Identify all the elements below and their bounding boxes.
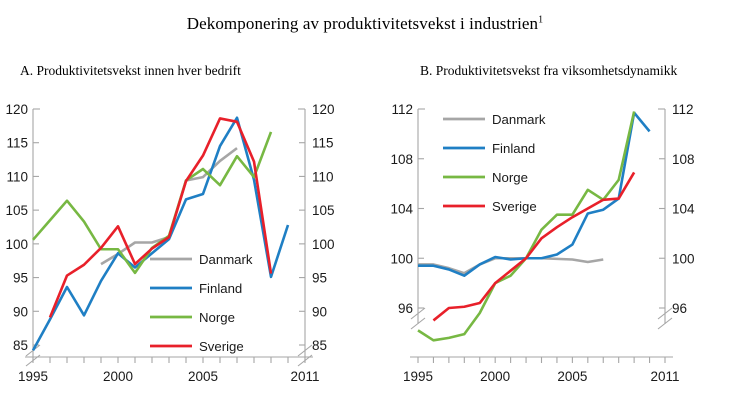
panel-b-svg: 9696100100104104108108112112199520002005… [365, 95, 730, 401]
y-tick-label-right: 110 [312, 169, 334, 184]
figure-title-footnote: 1 [538, 14, 543, 25]
legend-label-danmark: Danmark [492, 112, 546, 127]
legend-label-norge: Norge [199, 310, 235, 325]
y-tick-label-right: 105 [312, 203, 335, 218]
x-tick-label: 2011 [290, 369, 319, 384]
panel-b-chart: 9696100100104104108108112112199520002005… [365, 95, 730, 401]
y-tick-label-right: 95 [312, 271, 327, 286]
legend-label-sverige: Sverige [199, 339, 244, 354]
y-tick-label-right: 96 [672, 301, 687, 316]
legend-label-sverige: Sverige [492, 199, 537, 214]
y-tick-label-right: 108 [672, 152, 695, 167]
series-line-finland [418, 113, 650, 276]
y-tick-label-right: 85 [312, 338, 327, 353]
y-tick-label-left: 95 [13, 271, 28, 286]
x-tick-label: 1995 [403, 369, 433, 384]
y-tick-label-right: 100 [672, 251, 695, 266]
legend-label-norge: Norge [492, 170, 528, 185]
y-tick-label-left: 105 [5, 203, 28, 218]
panel-b-title: B. Produktivitetsvekst fra viksomhetsdyn… [420, 63, 677, 79]
y-tick-label-right: 90 [312, 304, 327, 319]
y-tick-label-right: 100 [312, 237, 335, 252]
legend-label-danmark: Danmark [199, 252, 253, 267]
y-tick-label-left: 120 [5, 102, 28, 117]
panel-a-title: A. Produktivitetsvekst innen hver bedrif… [20, 63, 241, 79]
y-tick-label-left: 108 [390, 152, 413, 167]
y-tick-label-left: 85 [13, 338, 28, 353]
y-tick-label-left: 110 [6, 169, 28, 184]
legend-label-finland: Finland [492, 141, 535, 156]
x-tick-label: 2011 [650, 369, 679, 384]
y-tick-label-left: 115 [6, 136, 28, 151]
y-tick-label-right: 112 [672, 102, 694, 117]
y-tick-label-left: 90 [13, 304, 28, 319]
figure-root: Dekomponering av produktivitetsvekst i i… [0, 0, 730, 401]
y-tick-label-left: 104 [390, 202, 413, 217]
figure-title-text: Dekomponering av produktivitetsvekst i i… [187, 14, 538, 33]
figure-title: Dekomponering av produktivitetsvekst i i… [0, 14, 730, 34]
y-tick-label-left: 100 [390, 251, 413, 266]
legend-label-finland: Finland [199, 281, 242, 296]
x-tick-label: 2000 [103, 369, 133, 384]
x-tick-label: 2000 [480, 369, 510, 384]
y-tick-label-left: 112 [391, 102, 413, 117]
series-line-sverige [433, 172, 634, 320]
series-line-danmark [101, 148, 237, 264]
y-tick-label-right: 115 [312, 136, 334, 151]
panel-a-svg: 8585909095951001001051051101101151151201… [0, 95, 365, 401]
x-tick-label: 1995 [18, 369, 48, 384]
y-tick-label-right: 104 [672, 202, 695, 217]
panel-a-chart: 8585909095951001001051051101101151151201… [0, 95, 365, 401]
y-tick-label-left: 96 [398, 301, 413, 316]
y-tick-label-right: 120 [312, 102, 335, 117]
y-tick-label-left: 100 [5, 237, 28, 252]
x-tick-label: 2005 [188, 369, 218, 384]
x-tick-label: 2005 [557, 369, 587, 384]
